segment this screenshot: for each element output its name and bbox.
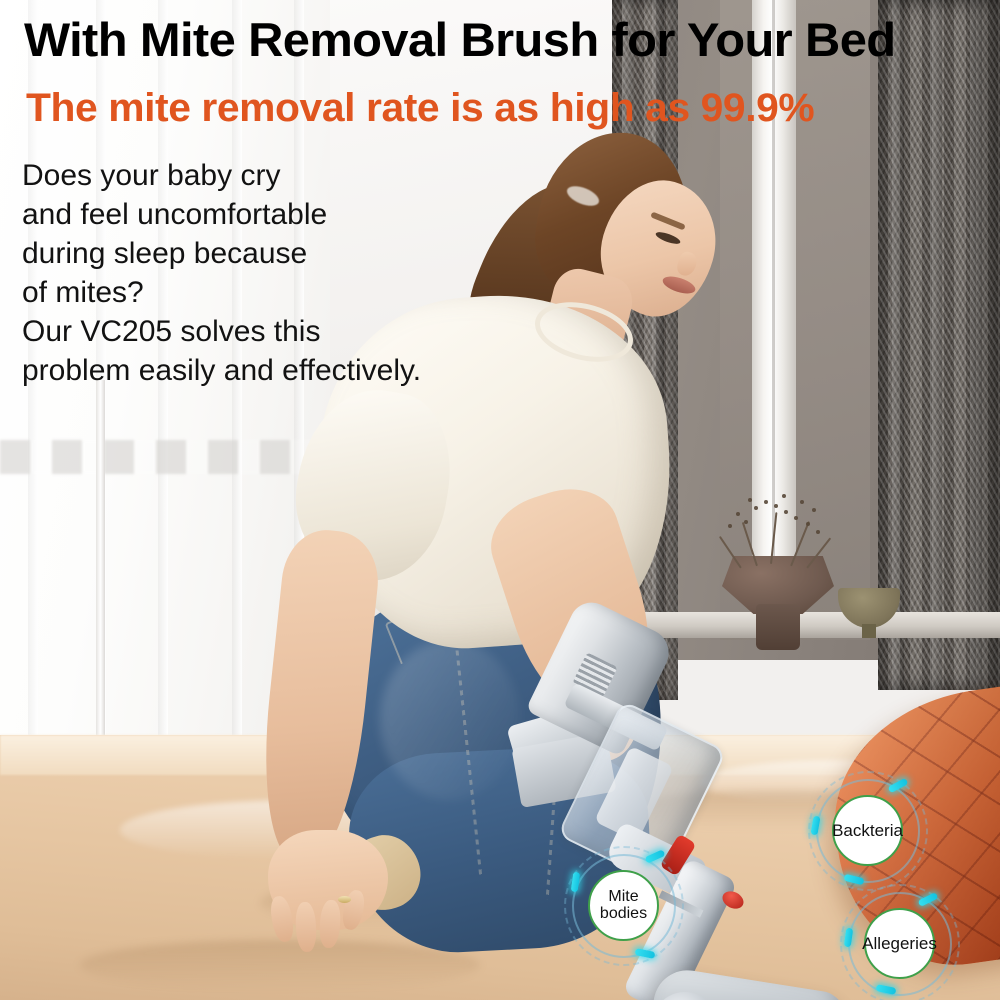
badge-allegeries[interactable]: Allegeries <box>864 908 935 979</box>
body-line-3: during sleep because <box>22 234 542 273</box>
badge-mite-bodies-line-1: Mite <box>600 889 647 906</box>
left-hand <box>268 830 388 930</box>
body-line-6: problem easily and effectively. <box>22 351 542 390</box>
badge-allegeries-label: Allegeries <box>862 935 937 953</box>
body-line-4: of mites? <box>22 273 542 312</box>
body-line-1: Does your baby cry <box>22 156 542 195</box>
headline: With Mite Removal Brush for Your Bed <box>24 16 1000 64</box>
body-copy: Does your baby cry and feel uncomfortabl… <box>22 156 542 390</box>
scene-photo: Mite bodies Backteria Allegeries <box>0 0 1000 1000</box>
badge-mite-bodies[interactable]: Mite bodies <box>588 870 659 941</box>
body-line-5: Our VC205 solves this <box>22 312 542 351</box>
badge-backteria[interactable]: Backteria <box>832 795 903 866</box>
subheadline: The mite removal rate is as high as 99.9… <box>26 88 1000 129</box>
body-line-2: and feel uncomfortable <box>22 195 542 234</box>
badge-backteria-label: Backteria <box>832 822 903 840</box>
finger-ring <box>338 896 351 903</box>
product-banner: Mite bodies Backteria Allegeries <box>0 0 1000 1000</box>
badge-mite-bodies-line-2: bodies <box>600 906 647 923</box>
